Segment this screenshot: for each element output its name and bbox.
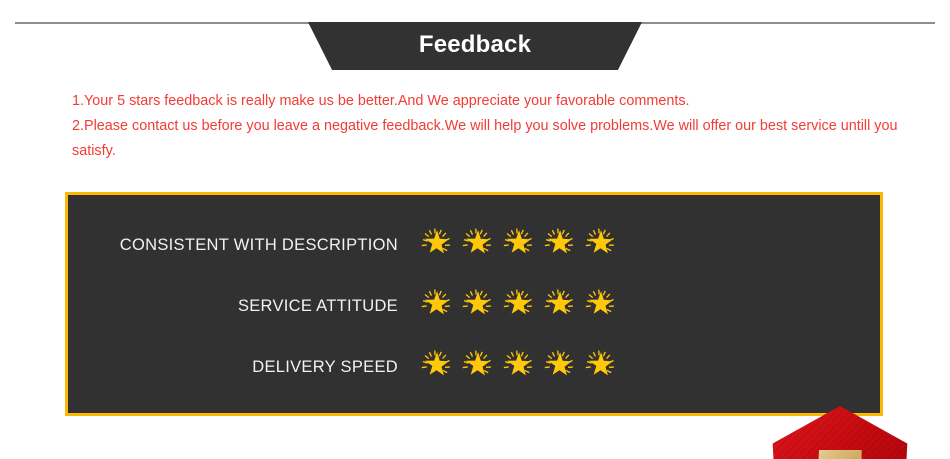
rating-label: DELIVERY SPEED	[68, 358, 398, 377]
rating-stars	[416, 287, 621, 325]
star-sparkle-icon	[498, 226, 536, 264]
rating-rows: CONSISTENT WITH DESCRIPTION	[68, 221, 638, 404]
policy-note-line: 2.Please contact us before you leave a n…	[72, 114, 902, 164]
star-sparkle-icon	[539, 287, 577, 325]
star-sparkle-icon	[539, 348, 577, 386]
star-sparkle-icon	[580, 287, 618, 325]
rating-label: SERVICE ATTITUDE	[68, 297, 398, 316]
rating-stars	[416, 226, 621, 264]
star-sparkle-icon	[457, 348, 495, 386]
guarantee-shield-badge: 5 guarantee is genuine	[741, 400, 939, 459]
rating-row: CONSISTENT WITH DESCRIPTION	[68, 221, 638, 269]
star-sparkle-icon	[416, 348, 454, 386]
rating-stars	[416, 348, 621, 386]
rating-row: SERVICE ATTITUDE	[68, 282, 638, 330]
star-sparkle-icon	[580, 348, 618, 386]
rating-row: DELIVERY SPEED	[68, 343, 638, 391]
page-title: Feedback	[419, 33, 531, 59]
shield-number: 5	[811, 428, 868, 459]
star-sparkle-icon	[498, 348, 536, 386]
star-sparkle-icon	[457, 226, 495, 264]
rating-label: CONSISTENT WITH DESCRIPTION	[68, 236, 398, 255]
divider-rule-left	[15, 22, 310, 24]
star-sparkle-icon	[498, 287, 536, 325]
star-sparkle-icon	[457, 287, 495, 325]
feedback-title-banner: Feedback	[308, 22, 642, 70]
star-sparkle-icon	[580, 226, 618, 264]
star-sparkle-icon	[416, 287, 454, 325]
star-sparkle-icon	[539, 226, 577, 264]
feedback-banner-page: Feedback 1.Your 5 stars feedback is real…	[0, 0, 950, 459]
header-band: Feedback	[0, 0, 950, 80]
star-sparkle-icon	[416, 226, 454, 264]
policy-note-line: 1.Your 5 stars feedback is really make u…	[72, 89, 902, 114]
divider-rule-right	[638, 22, 935, 24]
policy-notes: 1.Your 5 stars feedback is really make u…	[72, 89, 902, 164]
rating-panel: CONSISTENT WITH DESCRIPTION	[65, 192, 883, 416]
